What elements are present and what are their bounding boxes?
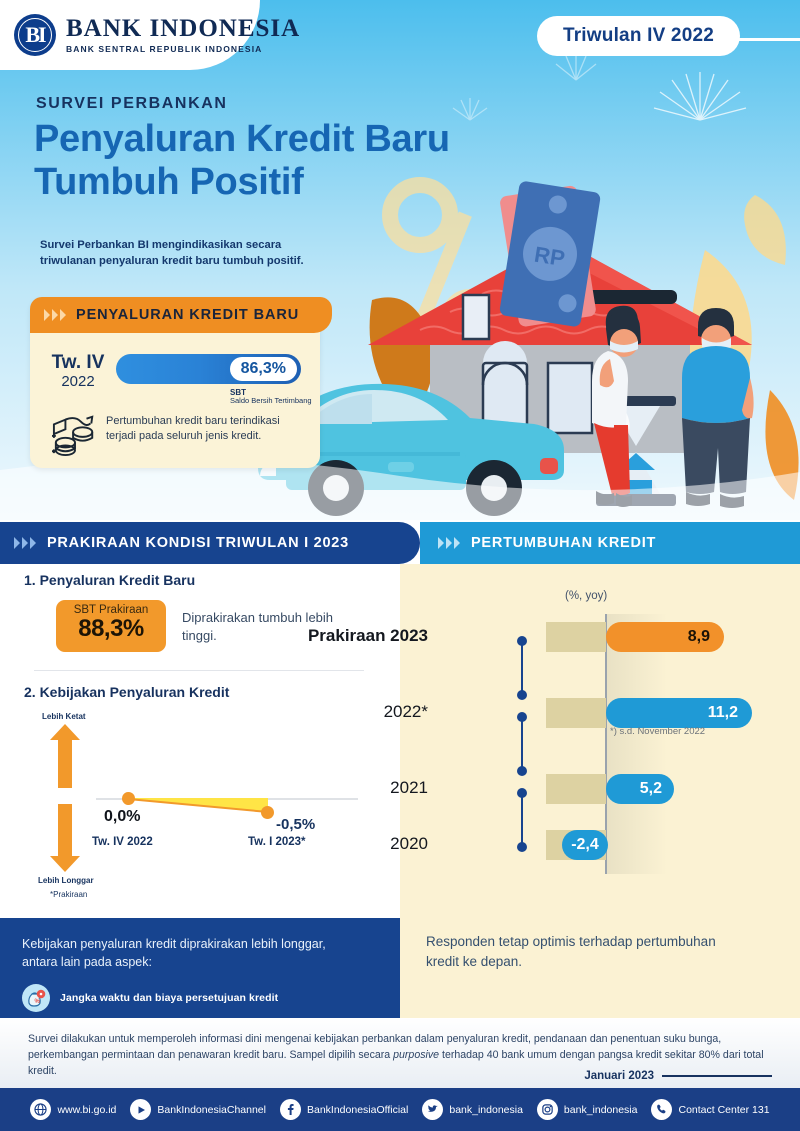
credit-card-period: Tw. IV 2022 <box>46 353 110 390</box>
facebook-icon <box>280 1099 301 1120</box>
bar-value-2022: 11,2 <box>708 704 738 722</box>
badge-tail <box>730 38 800 41</box>
methodology-note: Survei dilakukan untuk memperoleh inform… <box>0 1018 800 1088</box>
social-label-website: www.bi.go.id <box>57 1104 116 1116</box>
instagram-icon <box>537 1099 558 1120</box>
social-link-youtube[interactable]: BankIndonesiaChannel <box>130 1099 266 1120</box>
bar-2021: 5,2 <box>606 774 674 804</box>
social-link-twitter[interactable]: bank_indonesia <box>422 1099 523 1120</box>
bar-value-prakiraan-2023: 8,9 <box>688 628 710 646</box>
arrow-up-shaft <box>58 736 72 788</box>
bar-value-2021: 5,2 <box>640 780 662 798</box>
policy-slope-area <box>128 798 268 814</box>
infographic-page: RP RP <box>0 0 800 1131</box>
logo-title: BANK INDONESIA <box>66 16 300 41</box>
social-link-contact-center[interactable]: Contact Center 131 <box>651 1099 769 1120</box>
date-rule <box>662 1075 772 1077</box>
social-media-bar: www.bi.go.id BankIndonesiaChannel BankIn… <box>0 1088 800 1131</box>
respondent-summary: Responden tetap optimis terhadap pertumb… <box>426 932 746 971</box>
period-year: 2022 <box>46 373 110 390</box>
credit-growth-panel: (%, yoy) Prakiraan 2023 8,9 2022* 11,2 <box>400 564 800 1018</box>
credit-disbursement-card: PENYALURAN KREDIT BARU Tw. IV 2022 86,3%… <box>30 298 320 468</box>
category-tw4-2022: Tw. IV 2022 <box>92 836 153 848</box>
bar-label-2022: 2022* <box>384 702 428 722</box>
credit-card-header: PENYALURAN KREDIT BARU <box>30 297 332 333</box>
social-label-contact-center: Contact Center 131 <box>678 1104 769 1116</box>
publication-date-text: Januari 2023 <box>584 1070 654 1082</box>
value-tw1-2023: -0,5% <box>276 816 315 833</box>
section-forecast-title: PRAKIRAAN KONDISI TRIWULAN I 2023 <box>47 535 349 551</box>
section-header-bar: PRAKIRAAN KONDISI TRIWULAN I 2023 PERTUM… <box>0 522 800 564</box>
svg-text:RP: RP <box>533 242 567 271</box>
page-title: Penyaluran Kredit Baru Tumbuh Positif <box>34 118 574 203</box>
credit-card-note: Pertumbuhan kredit baru terindikasi terj… <box>106 414 301 444</box>
section-header-forecast: PRAKIRAAN KONDISI TRIWULAN I 2023 <box>0 522 420 564</box>
section-growth-title: PERTUMBUHAN KREDIT <box>471 535 656 551</box>
phone-icon <box>651 1099 672 1120</box>
bar-value-2020: -2,4 <box>571 836 599 854</box>
quarter-badge: Triwulan IV 2022 <box>537 16 740 56</box>
social-label-facebook: BankIndonesiaOfficial <box>307 1104 408 1116</box>
bar-row-2022: 2022* 11,2 <box>400 698 800 728</box>
chart-unit-label: (%, yoy) <box>565 590 607 602</box>
globe-icon <box>30 1099 51 1120</box>
social-link-instagram[interactable]: bank_indonesia <box>537 1099 638 1120</box>
social-link-facebook[interactable]: BankIndonesiaOfficial <box>280 1099 408 1120</box>
bi-seal-text: BI <box>25 22 44 48</box>
logo-subtitle: BANK SENTRAL REPUBLIK INDONESIA <box>66 44 300 54</box>
policy-aspect-box: Kebijakan penyaluran kredit diprakirakan… <box>0 918 400 1018</box>
youtube-icon <box>130 1099 151 1120</box>
credit-policy-chart: Lebih Ketat Lebih Longgar *Prakiraan 0,0… <box>24 712 380 902</box>
twitter-icon <box>422 1099 443 1120</box>
social-link-website[interactable]: www.bi.go.id <box>30 1099 116 1120</box>
data-point-tw4-2022 <box>122 792 135 805</box>
bar-2020: -2,4 <box>562 830 608 860</box>
bar-ghost <box>546 622 606 652</box>
section-header-growth: PERTUMBUHAN KREDIT <box>420 522 800 564</box>
page-title-line1: Penyaluran Kredit Baru <box>34 118 574 161</box>
category-tw1-2023: Tw. I 2023* <box>248 836 306 848</box>
chevrons-right-icon <box>44 309 67 322</box>
axis-label-looser: Lebih Longgar <box>38 876 94 885</box>
bar-prakiraan-2023: 8,9 <box>606 622 724 652</box>
sbt-legend: SBT Saldo Bersih Tertimbang <box>230 388 312 406</box>
bar-row-prakiraan-2023: Prakiraan 2023 8,9 <box>400 622 800 652</box>
bar-row-2021: 2021 5,2 <box>400 774 800 804</box>
publication-date: Januari 2023 <box>584 1070 772 1082</box>
credit-card-heading: PENYALURAN KREDIT BARU <box>76 307 299 323</box>
bar-row-2020: 2020 -2,4 <box>400 830 800 860</box>
forecast-item1-title: 1. Penyaluran Kredit Baru <box>24 572 195 588</box>
period-quarter: Tw. IV <box>46 353 110 373</box>
arrow-down-icon <box>50 856 80 872</box>
panel-divider <box>34 670 364 671</box>
hero-subtitle: Survei Perbankan BI mengindikasikan seca… <box>40 238 305 270</box>
chart-footnote: *Prakiraan <box>50 890 87 899</box>
data-point-tw1-2023 <box>261 806 274 819</box>
bar-label-2021: 2021 <box>390 778 428 798</box>
bar-2022: 11,2 <box>606 698 752 728</box>
svg-text:%: % <box>35 999 41 1005</box>
social-label-twitter: bank_indonesia <box>449 1104 523 1116</box>
money-bag-tag-icon: % <box>22 984 50 1012</box>
social-label-youtube: BankIndonesiaChannel <box>157 1104 266 1116</box>
bar-ghost <box>546 774 606 804</box>
coins-growth-icon <box>50 411 100 457</box>
sbt-gauge-bar: 86,3% <box>116 354 301 384</box>
sbt-full: Saldo Bersih Tertimbang <box>230 397 312 406</box>
bar-label-2020: 2020 <box>390 834 428 854</box>
bar-label-prakiraan-2023: Prakiraan 2023 <box>308 626 428 646</box>
forecast-item2-title: 2. Kebijakan Penyaluran Kredit <box>24 684 229 700</box>
social-label-instagram: bank_indonesia <box>564 1104 638 1116</box>
page-title-line2: Tumbuh Positif <box>34 161 574 204</box>
chevrons-right-icon <box>14 537 37 550</box>
bar-ghost <box>546 698 606 728</box>
bank-indonesia-logo: BI BANK INDONESIA BANK SENTRAL REPUBLIK … <box>14 14 300 56</box>
sbt-forecast-value: 88,3% <box>56 616 166 641</box>
aspect-item-text: Jangka waktu dan biaya persetujuan kredi… <box>60 992 278 1004</box>
value-tw4-2022: 0,0% <box>104 808 140 826</box>
chevrons-right-icon <box>438 537 461 550</box>
arrow-down-shaft <box>58 804 72 856</box>
aspect-box-title: Kebijakan penyaluran kredit diprakirakan… <box>22 936 352 972</box>
sbt-gauge-value: 86,3% <box>230 357 297 381</box>
bar-chart-footnote: *) s.d. November 2022 <box>610 726 705 737</box>
sbt-forecast-box: SBT Prakiraan 88,3% <box>56 600 166 652</box>
survey-kicker: SURVEI PERBANKAN <box>36 95 228 113</box>
bi-seal-icon: BI <box>14 14 56 56</box>
forecast-panel: 1. Penyaluran Kredit Baru SBT Prakiraan … <box>0 564 400 918</box>
aspect-item: % Jangka waktu dan biaya persetujuan kre… <box>22 984 378 1012</box>
axis-label-tighter: Lebih Ketat <box>42 712 86 721</box>
